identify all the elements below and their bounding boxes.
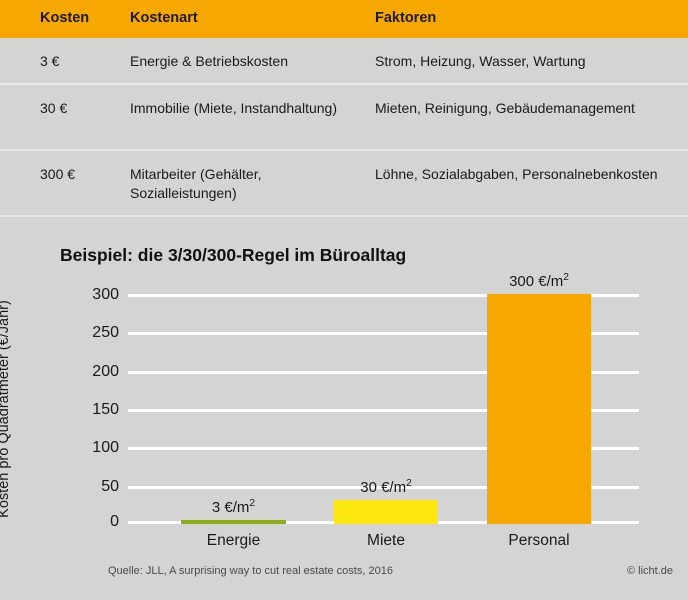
table-body: 3 € Energie & Betriebskosten Strom, Heiz…	[0, 38, 688, 217]
bar-chart: Beispiel: die 3/30/300-Regel im Büroallt…	[0, 235, 688, 565]
cost-table: Kosten Kostenart Faktoren 3 € Energie & …	[0, 0, 688, 217]
y-tick-label: 200	[92, 363, 119, 381]
cell-kosten: 300 €	[40, 165, 75, 184]
bar-miete[interactable]: 30 €/m2 Miete	[334, 500, 438, 524]
table-header-row: Kosten Kostenart Faktoren	[0, 0, 688, 38]
y-axis-title: Kosten pro Quadratmeter (€/Jahr)	[0, 294, 18, 524]
bar-value-label: 3 €/m2	[212, 498, 255, 516]
source-note: Quelle: JLL, A surprising way to cut rea…	[108, 565, 393, 577]
chart-footer: Quelle: JLL, A surprising way to cut rea…	[0, 565, 688, 585]
column-header-kostenart: Kostenart	[130, 10, 198, 26]
cell-kostenart: Immobilie (Miete, Instandhaltung)	[130, 99, 365, 118]
cell-faktoren: Löhne, Sozialabgaben, Personalnebenkoste…	[375, 165, 675, 184]
bar-value-label: 300 €/m2	[509, 272, 569, 290]
y-tick-label: 50	[101, 478, 119, 496]
bar-personal[interactable]: 300 €/m2 Personal	[487, 294, 591, 524]
table-row: 300 € Mitarbeiter (Gehälter, Sozialleist…	[0, 151, 688, 217]
cell-kostenart: Energie & Betriebskosten	[130, 52, 365, 71]
bar-value-label: 30 €/m2	[360, 478, 412, 496]
cell-faktoren: Mieten, Reinigung, Gebäudemanagement	[375, 99, 675, 118]
y-tick-label: 100	[92, 439, 119, 457]
column-header-faktoren: Faktoren	[375, 10, 436, 26]
y-tick-label: 150	[92, 401, 119, 419]
y-tick-label: 0	[110, 513, 119, 531]
cell-kosten: 30 €	[40, 99, 67, 118]
copyright-note: © licht.de	[627, 565, 673, 577]
table-row: 3 € Energie & Betriebskosten Strom, Heiz…	[0, 38, 688, 85]
chart-title: Beispiel: die 3/30/300-Regel im Büroallt…	[60, 245, 406, 266]
x-axis-label-miete: Miete	[367, 532, 405, 550]
cell-kosten: 3 €	[40, 52, 59, 71]
table-row: 30 € Immobilie (Miete, Instandhaltung) M…	[0, 85, 688, 151]
x-axis-label-personal: Personal	[508, 532, 569, 550]
bar-energie[interactable]: 3 €/m2 Energie	[181, 520, 286, 524]
x-axis-label-energie: Energie	[207, 532, 260, 550]
column-header-kosten: Kosten	[40, 10, 89, 26]
y-tick-label: 250	[92, 324, 119, 342]
cell-faktoren: Strom, Heizung, Wasser, Wartung	[375, 52, 675, 71]
cell-kostenart: Mitarbeiter (Gehälter, Sozialleistungen)	[130, 165, 365, 203]
y-tick-label: 300	[92, 286, 119, 304]
plot-area: 300 250 200 150 100 50 0 3 €/m2 Energie …	[128, 294, 639, 524]
